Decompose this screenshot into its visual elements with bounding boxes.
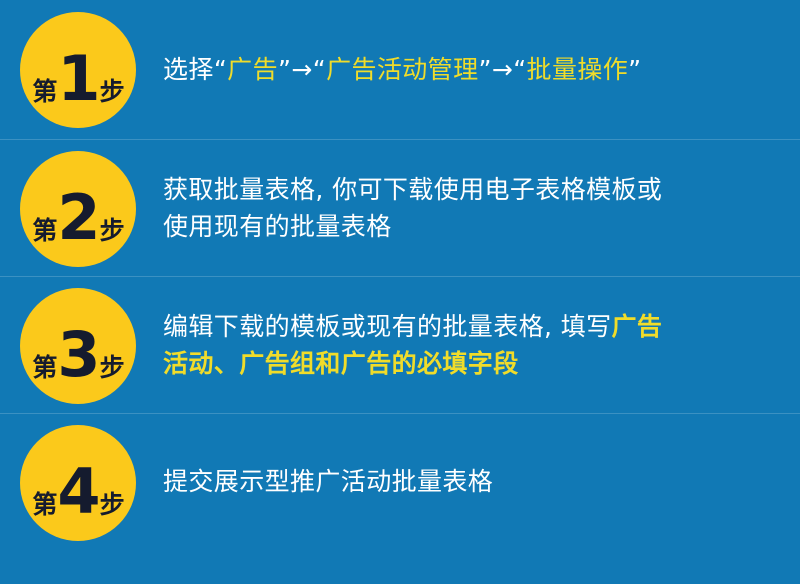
- step-badge-3-content: 第 3 步: [32, 330, 123, 380]
- text-run-highlight: 广告: [227, 55, 278, 84]
- text-run: →: [291, 55, 312, 84]
- steps-infographic: 第 1 步 选择“广告”→“广告活动管理”→“批量操作” 第 2 步 获取批量表…: [0, 0, 800, 584]
- text-run: 使用现有的批量表格: [163, 212, 392, 241]
- step-badge-4-suffix: 步: [100, 492, 124, 517]
- text-run: 编辑下载的模板或现有的批量表格, 填写: [163, 312, 612, 341]
- text-run: ”: [628, 55, 641, 84]
- text-run: →: [492, 55, 513, 84]
- step-row-4: 第 4 步 提交展示型推广活动批量表格: [0, 414, 800, 551]
- step-badge-3-prefix: 第: [32, 355, 56, 380]
- text-line: 提交展示型推广活动批量表格: [163, 464, 493, 501]
- step-text-2: 获取批量表格, 你可下载使用电子表格模板或使用现有的批量表格: [163, 172, 662, 245]
- step-badge-3-suffix: 步: [100, 355, 124, 380]
- step-badge-1-content: 第 1 步: [32, 54, 123, 104]
- text-line: 使用现有的批量表格: [163, 209, 662, 246]
- step-row-3: 第 3 步 编辑下载的模板或现有的批量表格, 填写广告活动、广告组和广告的必填字…: [0, 277, 800, 414]
- text-line: 选择“广告”→“广告活动管理”→“批量操作”: [163, 52, 642, 89]
- step-badge-2-number: 2: [57, 193, 98, 243]
- step-badge-4-content: 第 4 步: [32, 467, 123, 517]
- step-badge-2-suffix: 步: [100, 218, 124, 243]
- text-run: “: [313, 55, 326, 84]
- step-text-1: 选择“广告”→“广告活动管理”→“批量操作”: [163, 52, 642, 89]
- step-badge-4-prefix: 第: [32, 492, 56, 517]
- text-run-highlight: 广告: [612, 312, 663, 341]
- step-badge-1-suffix: 步: [100, 79, 124, 104]
- step-row-1: 第 1 步 选择“广告”→“广告活动管理”→“批量操作”: [0, 0, 800, 140]
- step-text-4: 提交展示型推广活动批量表格: [163, 464, 493, 501]
- step-badge-2-prefix: 第: [32, 218, 56, 243]
- step-badge-2-content: 第 2 步: [32, 193, 123, 243]
- step-badge-1-number: 1: [57, 54, 98, 104]
- text-run: ”: [278, 55, 291, 84]
- text-run: “: [513, 55, 526, 84]
- text-run-highlight: 批量操作: [527, 55, 629, 84]
- step-badge-4-number: 4: [57, 467, 98, 517]
- step-text-3: 编辑下载的模板或现有的批量表格, 填写广告活动、广告组和广告的必填字段: [163, 309, 662, 382]
- step-badge-1-prefix: 第: [32, 79, 56, 104]
- text-run-highlight: 活动、广告组和广告的必填字段: [163, 349, 519, 378]
- step-row-2: 第 2 步 获取批量表格, 你可下载使用电子表格模板或使用现有的批量表格: [0, 140, 800, 277]
- step-badge-2: 第 2 步: [20, 151, 136, 267]
- step-badge-3: 第 3 步: [20, 288, 136, 404]
- step-badge-4: 第 4 步: [20, 425, 136, 541]
- text-run: ”: [478, 55, 491, 84]
- text-line: 编辑下载的模板或现有的批量表格, 填写广告: [163, 309, 662, 346]
- text-run: “: [214, 55, 227, 84]
- text-run-highlight: 广告活动管理: [326, 55, 478, 84]
- text-line: 获取批量表格, 你可下载使用电子表格模板或: [163, 172, 662, 209]
- text-run: 选择: [163, 55, 214, 84]
- step-badge-3-number: 3: [57, 330, 98, 380]
- text-line: 活动、广告组和广告的必填字段: [163, 346, 662, 383]
- step-badge-1: 第 1 步: [20, 12, 136, 128]
- text-run: 获取批量表格, 你可下载使用电子表格模板或: [163, 175, 662, 204]
- text-run: 提交展示型推广活动批量表格: [163, 467, 493, 496]
